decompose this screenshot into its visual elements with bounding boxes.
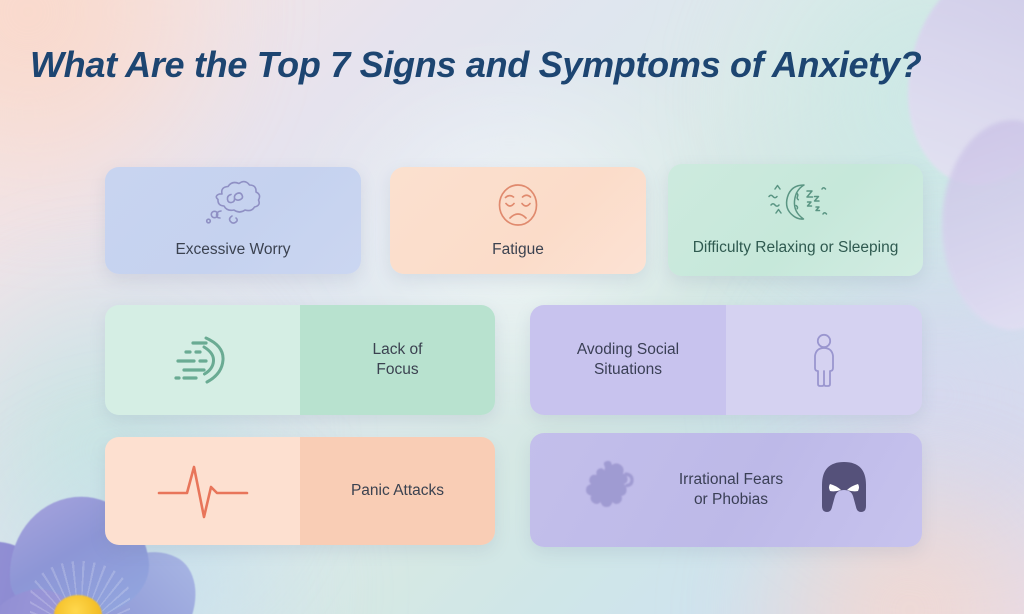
card-label: Difficulty Relaxing or Sleeping xyxy=(685,238,907,258)
blurred-focus-icon xyxy=(166,332,240,388)
card-avoiding-social-situations[interactable]: Avoding Social Situations xyxy=(530,305,922,415)
card-label: Fatigue xyxy=(484,240,552,260)
flower-veins xyxy=(30,561,130,614)
card-label-line-2: Focus xyxy=(373,360,423,380)
monster-silhouette-icon xyxy=(581,458,645,522)
card-irrational-fears-or-phobias[interactable]: Irrational Fears or Phobias xyxy=(530,433,922,547)
card-label-line-2: or Phobias xyxy=(679,490,783,510)
card-label-panel: Lack of Focus xyxy=(300,305,495,415)
card-icon-panel xyxy=(105,305,300,415)
card-label-line-1: Avoding Social xyxy=(577,340,679,360)
tired-face-icon xyxy=(493,180,543,230)
card-icon-panel xyxy=(726,305,922,415)
flower-petal-bottom xyxy=(0,579,96,614)
card-label: Panic Attacks xyxy=(343,481,452,501)
heartbeat-pulse-icon xyxy=(155,459,251,523)
card-label-panel: Panic Attacks xyxy=(300,437,495,545)
card-label-panel: Avoding Social Situations xyxy=(530,305,726,415)
card-label: Avoding Social Situations xyxy=(569,340,687,380)
card-label: Lack of Focus xyxy=(365,340,431,380)
crescent-moon-sleep-icon xyxy=(760,180,832,228)
flower-petal-right xyxy=(83,533,212,614)
ghost-face-icon xyxy=(817,459,871,521)
card-fatigue[interactable]: Fatigue xyxy=(390,167,646,274)
flower-petal-left xyxy=(0,522,73,614)
page-title: What Are the Top 7 Signs and Symptoms of… xyxy=(30,44,1020,85)
card-label-line-1: Lack of xyxy=(373,340,423,360)
person-standing-icon xyxy=(806,332,842,388)
card-label: Excessive Worry xyxy=(167,240,298,260)
card-lack-of-focus[interactable]: Lack of Focus xyxy=(105,305,495,415)
card-panic-attacks[interactable]: Panic Attacks xyxy=(105,437,495,545)
card-label-line-1: Irrational Fears xyxy=(679,470,783,490)
card-label: Irrational Fears or Phobias xyxy=(671,470,791,510)
card-excessive-worry[interactable]: Excessive Worry xyxy=(105,167,361,274)
infographic-canvas: What Are the Top 7 Signs and Symptoms of… xyxy=(0,0,1024,614)
card-icon-panel xyxy=(105,437,300,545)
flower-center xyxy=(54,595,102,614)
thought-cloud-icon xyxy=(202,180,264,230)
card-difficulty-sleeping[interactable]: Difficulty Relaxing or Sleeping xyxy=(668,164,923,276)
card-label-line-2: Situations xyxy=(577,360,679,380)
